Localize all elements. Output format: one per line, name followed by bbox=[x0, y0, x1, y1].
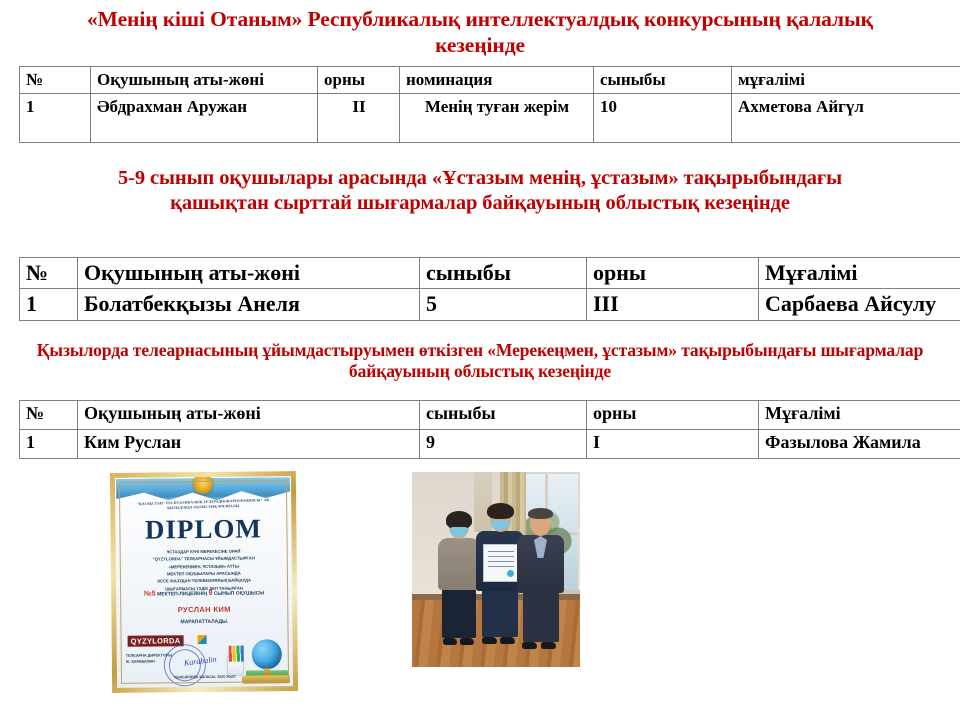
header-cell-grade: сыныбы bbox=[420, 258, 587, 289]
results-table-1: № Оқушының аты-жөні орны номинация сыныб… bbox=[19, 66, 960, 143]
person-legs bbox=[523, 590, 559, 642]
header-cell-number: № bbox=[20, 258, 78, 289]
person-hair bbox=[487, 503, 514, 519]
person-shoe-right bbox=[460, 638, 474, 645]
cell-student: Ким Руслан bbox=[78, 430, 420, 459]
photo-person-director-right bbox=[516, 510, 566, 667]
header-cell-student: Оқушының аты-жөні bbox=[91, 67, 318, 94]
results-table-3: № Оқушының аты-жөні сыныбы орны Мұғалімі… bbox=[19, 400, 960, 459]
header-cell-place: орны bbox=[318, 67, 400, 94]
cell-number: 1 bbox=[20, 289, 78, 320]
cell-place: II bbox=[318, 94, 400, 143]
person-legs bbox=[442, 588, 476, 638]
header-cell-nomination: номинация bbox=[400, 67, 594, 94]
certificate-line bbox=[488, 566, 514, 567]
diploma-image: "ҚАЗАҚСТАН" РЕСПУБЛИКАЛЫҚ ТЕЛЕРАДИОКОРПО… bbox=[110, 471, 298, 693]
cell-number: 1 bbox=[20, 430, 78, 459]
table-row: 1 Болатбекқызы Анеля 5 III Сарбаева Айсу… bbox=[20, 289, 960, 320]
results-table-2: № Оқушының аты-жөні сыныбы орны Мұғалімі… bbox=[19, 257, 960, 321]
cell-student: Әбдрахман Аружан bbox=[91, 94, 318, 143]
section-title-2: 5-9 сынып оқушылары арасында «Ұстазым ме… bbox=[70, 166, 890, 216]
person-shoe-right bbox=[541, 642, 556, 649]
diploma-inner-border bbox=[119, 480, 289, 684]
person-shoe-left bbox=[522, 642, 537, 649]
certificate-line bbox=[488, 561, 514, 562]
cell-place: I bbox=[587, 430, 759, 459]
certificate-line bbox=[488, 551, 514, 552]
person-legs bbox=[482, 589, 518, 637]
certificate-line bbox=[488, 556, 514, 557]
person-shoe-right bbox=[500, 637, 515, 644]
person-hair bbox=[528, 508, 553, 519]
cell-grade: 10 bbox=[594, 94, 732, 143]
slide-canvas: «Менің кіші Отаным» Республикалық интелл… bbox=[0, 0, 960, 720]
group-photo-image bbox=[412, 472, 580, 667]
cell-grade: 9 bbox=[420, 430, 587, 459]
cell-teacher: Ахметова Айгүл bbox=[732, 94, 960, 143]
cell-teacher: Сарбаева Айсулу bbox=[759, 289, 960, 320]
header-cell-place: орны bbox=[587, 401, 759, 430]
held-certificate bbox=[483, 544, 519, 582]
table-row-header: № Оқушының аты-жөні сыныбы орны Мұғалімі bbox=[20, 258, 960, 289]
header-cell-student: Оқушының аты-жөні bbox=[78, 258, 420, 289]
header-cell-student: Оқушының аты-жөні bbox=[78, 401, 420, 430]
table-row: 1 Әбдрахман Аружан II Менің туған жерім … bbox=[20, 94, 960, 143]
person-shoe-left bbox=[482, 637, 497, 644]
cell-nomination: Менің туған жерім bbox=[400, 94, 594, 143]
cell-place: III bbox=[587, 289, 759, 320]
header-cell-number: № bbox=[20, 401, 78, 430]
certificate-seal-icon bbox=[507, 570, 514, 577]
person-shoe-left bbox=[443, 638, 457, 645]
cell-teacher: Фазылова Жамила bbox=[759, 430, 960, 459]
face-mask-icon bbox=[491, 520, 510, 530]
header-cell-teacher: Мұғалімі bbox=[759, 258, 960, 289]
header-cell-teacher: мұғалімі bbox=[732, 67, 960, 94]
section-title-3: Қызылорда телеарнасының ұйымдастыруымен … bbox=[30, 340, 930, 383]
header-cell-teacher: Мұғалімі bbox=[759, 401, 960, 430]
cell-student: Болатбекқызы Анеля bbox=[78, 289, 420, 320]
header-cell-grade: сыныбы bbox=[420, 401, 587, 430]
cell-grade: 5 bbox=[420, 289, 587, 320]
table-row-header: № Оқушының аты-жөні орны номинация сыныб… bbox=[20, 67, 960, 94]
face-mask-icon bbox=[450, 527, 468, 537]
section-title-1: «Менің кіші Отаным» Республикалық интелл… bbox=[60, 6, 900, 58]
table-row: 1 Ким Руслан 9 I Фазылова Жамила bbox=[20, 430, 960, 459]
table-row-header: № Оқушының аты-жөні сыныбы орны Мұғалімі bbox=[20, 401, 960, 430]
header-cell-number: № bbox=[20, 67, 91, 94]
header-cell-place: орны bbox=[587, 258, 759, 289]
header-cell-grade: сыныбы bbox=[594, 67, 732, 94]
cell-number: 1 bbox=[20, 94, 91, 143]
